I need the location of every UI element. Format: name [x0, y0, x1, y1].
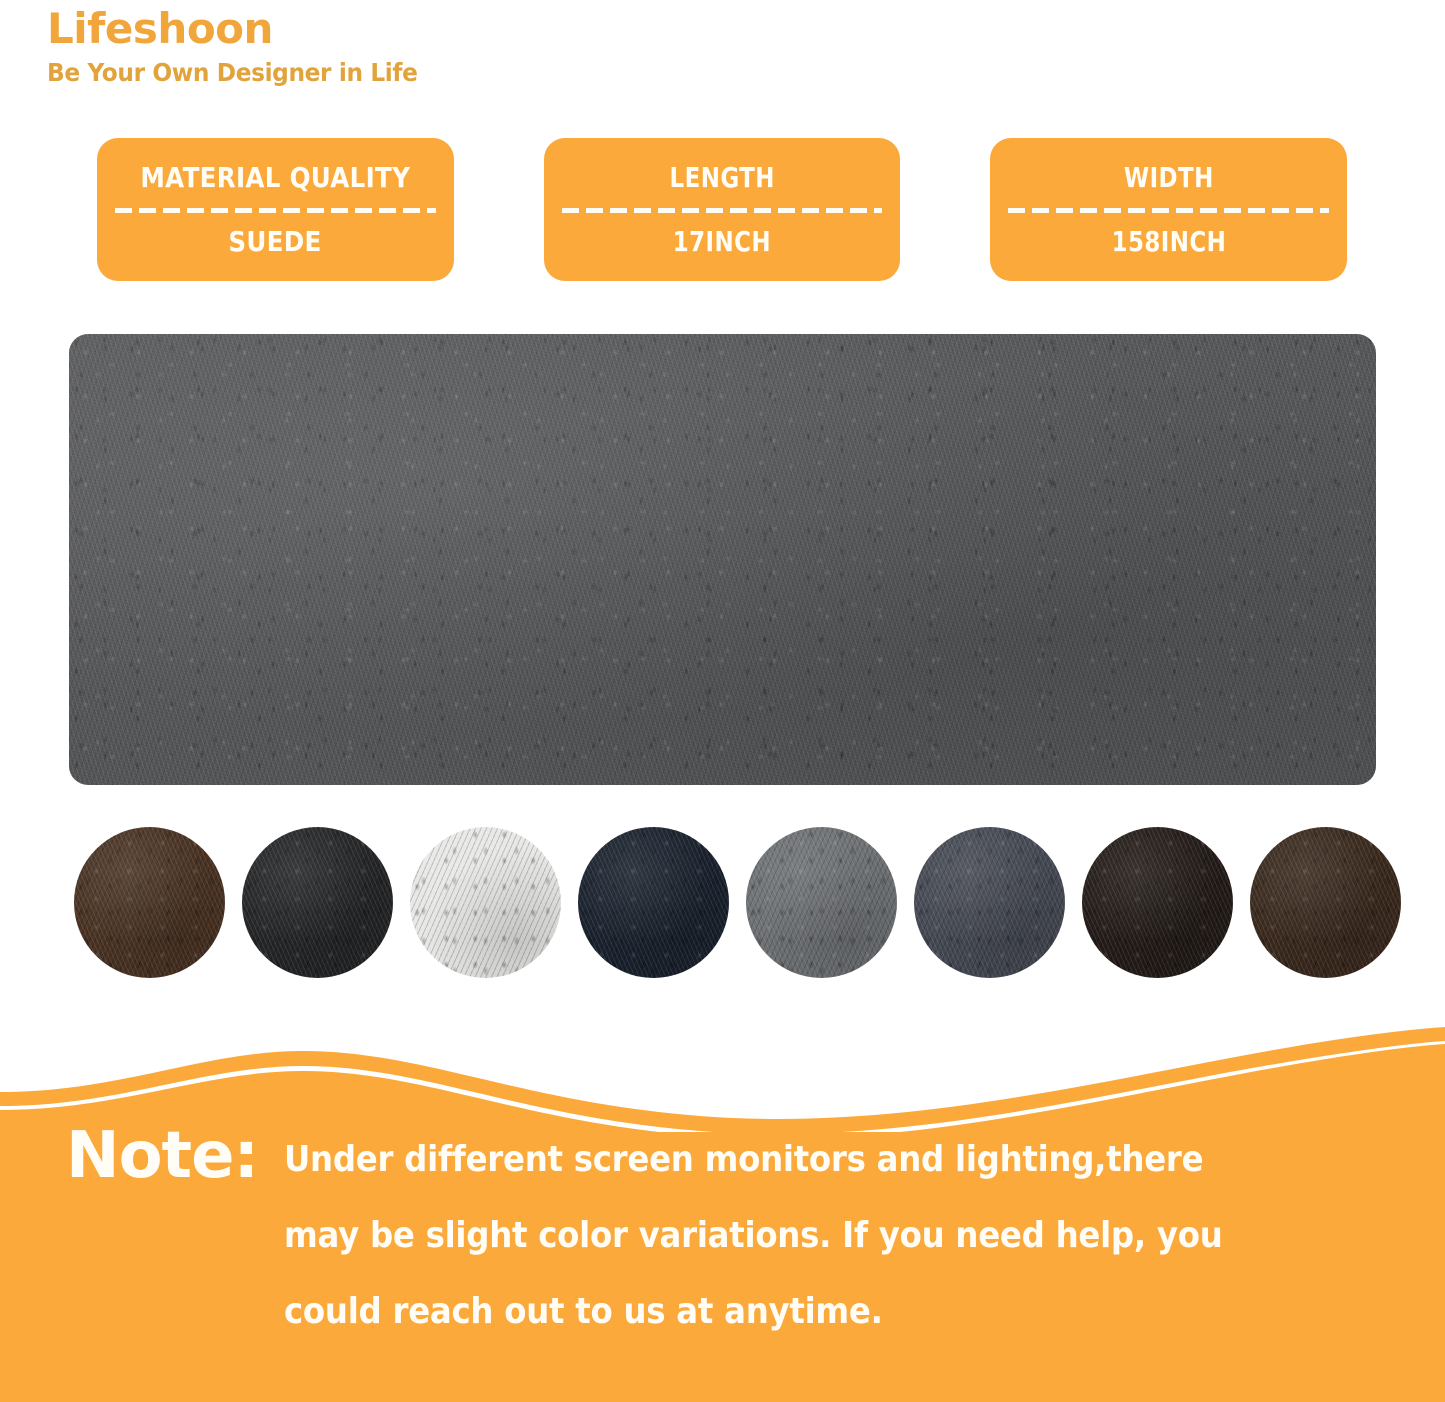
color-swatch-coffee-brown[interactable] — [1250, 827, 1401, 978]
brand-name: Lifeshoon — [47, 6, 747, 52]
spec-badge-width: WIDTH 158INCH — [990, 138, 1347, 281]
spec-title: WIDTH — [1124, 162, 1214, 194]
spec-badge-row: MATERIAL QUALITY SUEDE LENGTH 17INCH WID… — [97, 138, 1347, 281]
spec-value: 158INCH — [1111, 226, 1226, 258]
swatch-shading — [1250, 827, 1401, 978]
brand-tagline: Be Your Own Designer in Life — [47, 58, 698, 88]
color-swatch-dark-brown[interactable] — [74, 827, 225, 978]
color-swatch-medium-gray[interactable] — [746, 827, 897, 978]
note-label: Note: — [66, 1118, 258, 1194]
spec-badge-material-quality: MATERIAL QUALITY SUEDE — [97, 138, 454, 281]
spec-value: SUEDE — [229, 226, 322, 258]
color-swatch-espresso-black[interactable] — [1082, 827, 1233, 978]
swatch-shading — [914, 827, 1065, 978]
spec-title: MATERIAL QUALITY — [140, 162, 410, 194]
spec-title: LENGTH — [669, 162, 774, 194]
color-swatch-charcoal-black[interactable] — [242, 827, 393, 978]
color-swatch-cream-white[interactable] — [410, 827, 561, 978]
swatch-shading — [410, 827, 561, 978]
swatch-shading — [1082, 827, 1233, 978]
swatch-shading — [746, 827, 897, 978]
dashed-divider-icon — [562, 208, 883, 213]
product-rug-image — [69, 334, 1376, 785]
spec-badge-length: LENGTH 17INCH — [544, 138, 901, 281]
color-swatch-row — [74, 827, 1374, 978]
note-text: Under different screen monitors and ligh… — [284, 1118, 1275, 1350]
swatch-shading — [242, 827, 393, 978]
dashed-divider-icon — [115, 208, 436, 213]
color-swatch-slate-gray[interactable] — [914, 827, 1065, 978]
dashed-divider-icon — [1008, 208, 1329, 213]
note-content: Note: Under different screen monitors an… — [0, 1118, 1445, 1350]
spec-value: 17INCH — [673, 226, 771, 258]
swatch-shading — [74, 827, 225, 978]
color-swatch-navy-blue[interactable] — [578, 827, 729, 978]
swatch-shading — [578, 827, 729, 978]
brand-header: Lifeshoon Be Your Own Designer in Life — [47, 6, 747, 88]
rug-shading-layer — [69, 334, 1376, 785]
